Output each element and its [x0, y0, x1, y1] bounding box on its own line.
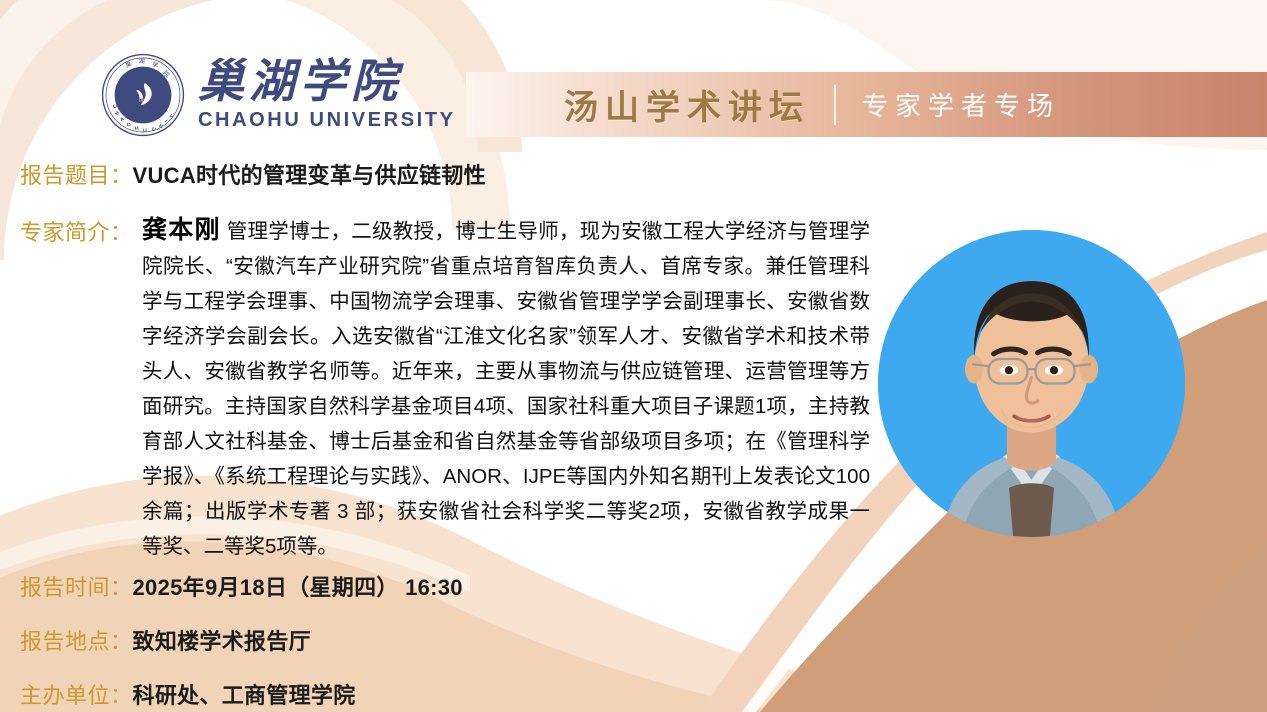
speaker-bio-label: 专家简介：	[20, 215, 133, 247]
report-title-row: 报告题目： VUCA时代的管理变革与供应链韧性	[20, 158, 486, 190]
report-time-value: 2025年9月18日（星期四） 16:30	[133, 570, 463, 602]
report-host-label: 主办单位：	[20, 678, 133, 710]
report-host-value: 科研处、工商管理学院	[133, 678, 356, 710]
university-name-en: CHAOHU UNIVERSITY	[198, 109, 456, 132]
report-time-label: 报告时间：	[20, 570, 133, 602]
svg-text:A: A	[119, 116, 126, 123]
speaker-bio-paragraph: 管理学博士，二级教授，博士生导师，现为安徽工程大学经济与管理学院院长、“安徽汽车…	[142, 220, 870, 558]
banner-main-title: 汤山学术讲坛	[564, 80, 810, 129]
banner-divider	[834, 85, 836, 125]
speaker-bio-text: 龚本刚 管理学博士，二级教授，博士生导师，现为安徽工程大学经济与管理学院院长、“…	[142, 213, 870, 564]
report-place-value: 致知楼学术报告厅	[133, 624, 311, 656]
report-title-label: 报告题目：	[20, 158, 133, 190]
university-name-cn: 巢湖学院	[198, 58, 456, 106]
chaohu-university-seal-icon: 1977 巢 湖 学 院 C H A O H U U N I V	[100, 52, 186, 138]
speaker-bio-row: 专家简介： 龚本刚 管理学博士，二级教授，博士生导师，现为安徽工程大学经济与管理…	[20, 213, 870, 564]
speaker-portrait-photo-icon	[878, 230, 1185, 537]
banner-sub-title: 专家学者专场	[862, 86, 1060, 123]
svg-text:H: H	[135, 126, 140, 133]
speaker-name: 龚本刚	[142, 216, 221, 244]
report-place-label: 报告地点：	[20, 624, 133, 656]
report-time-row: 报告时间： 2025年9月18日（星期四） 16:30	[20, 570, 463, 602]
svg-text:1977: 1977	[139, 98, 148, 103]
seminar-poster: 1977 巢 湖 学 院 C H A O H U U N I V 巢湖学院	[0, 0, 1267, 712]
report-title-value: VUCA时代的管理变革与供应链韧性	[133, 158, 486, 190]
svg-text:O: O	[126, 122, 132, 129]
report-host-row: 主办单位： 科研处、工商管理学院	[20, 678, 356, 710]
report-place-row: 报告地点： 致知楼学术报告厅	[20, 624, 311, 656]
svg-text:湖: 湖	[139, 57, 145, 65]
svg-text:U: U	[143, 128, 147, 134]
lecture-series-banner: 汤山学术讲坛 专家学者专场	[466, 72, 1267, 137]
speaker-portrait	[878, 230, 1185, 537]
university-logo: 1977 巢 湖 学 院 C H A O H U U N I V 巢湖学院	[100, 52, 456, 138]
